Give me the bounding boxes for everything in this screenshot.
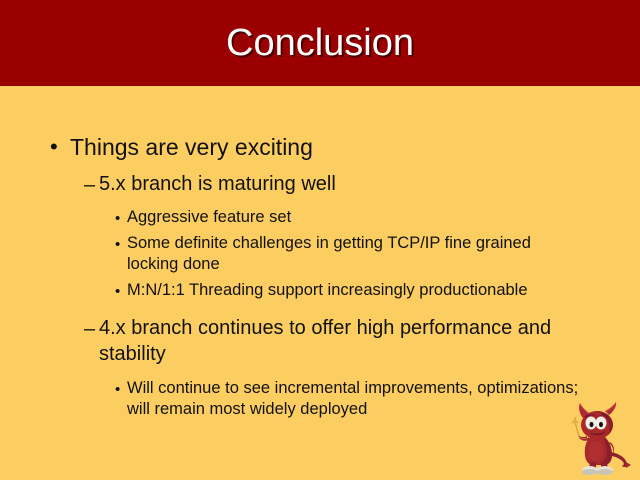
list-item: • M:N/1:1 Threading support increasingly… bbox=[0, 280, 640, 301]
bullet-point-icon: • bbox=[50, 132, 58, 162]
list-item-label: M:N/1:1 Threading support increasingly p… bbox=[127, 280, 585, 301]
list-item: – 4.x branch continues to offer high per… bbox=[0, 315, 640, 367]
slide-title-band: Conclusion bbox=[0, 0, 640, 86]
page-title: Conclusion bbox=[0, 0, 640, 86]
bullet-point-icon: • bbox=[115, 233, 120, 257]
dash-bullet-icon: – bbox=[84, 171, 95, 199]
bullet-point-icon: • bbox=[115, 378, 120, 402]
slide-body: • Things are very exciting – 5.x branch … bbox=[0, 86, 640, 480]
bullet-point-icon: • bbox=[115, 280, 120, 304]
list-item: – 5.x branch is maturing well bbox=[0, 171, 640, 197]
list-item: • Will continue to see incremental impro… bbox=[0, 378, 640, 420]
list-item-label: Things are very exciting bbox=[70, 132, 640, 162]
list-item-label: Will continue to see incremental improve… bbox=[127, 378, 585, 420]
bullet-point-icon: • bbox=[115, 207, 120, 231]
dash-bullet-icon: – bbox=[84, 315, 95, 343]
list-item: • Things are very exciting bbox=[0, 132, 640, 162]
bsd-daemon-icon bbox=[570, 396, 632, 476]
presentation-slide: Conclusion • Things are very exciting – … bbox=[0, 0, 640, 480]
list-item: • Some definite challenges in getting TC… bbox=[0, 233, 640, 275]
list-item-label: 5.x branch is maturing well bbox=[99, 171, 585, 197]
list-item-label: 4.x branch continues to offer high perfo… bbox=[99, 315, 585, 367]
list-item-label: Some definite challenges in getting TCP/… bbox=[127, 233, 585, 275]
list-item: • Aggressive feature set bbox=[0, 207, 640, 228]
list-item-label: Aggressive feature set bbox=[127, 207, 585, 228]
